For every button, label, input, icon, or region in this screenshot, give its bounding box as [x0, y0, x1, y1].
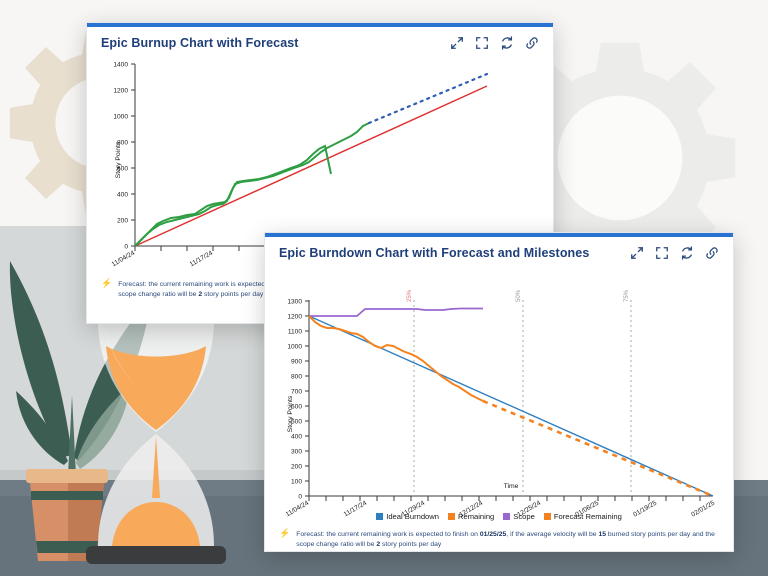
svg-text:25%: 25% — [407, 289, 413, 302]
svg-text:1100: 1100 — [288, 328, 303, 335]
svg-text:1400: 1400 — [113, 61, 128, 68]
collapse-icon[interactable] — [630, 246, 644, 260]
svg-text:0: 0 — [298, 493, 302, 500]
burndown-card-header: Epic Burndown Chart with Forecast and Mi… — [265, 237, 733, 264]
fullscreen-icon[interactable] — [475, 36, 489, 50]
link-icon[interactable] — [705, 246, 719, 260]
fullscreen-icon[interactable] — [655, 246, 669, 260]
bolt-icon: ⚡ — [279, 529, 290, 538]
svg-text:400: 400 — [291, 433, 302, 440]
svg-text:75%: 75% — [624, 289, 630, 302]
svg-text:0: 0 — [124, 243, 128, 250]
burnup-chart-title: Epic Burnup Chart with Forecast — [101, 36, 299, 50]
legend-item-scope[interactable]: Scope — [503, 512, 535, 521]
svg-text:100: 100 — [291, 478, 302, 485]
legend-item-remaining[interactable]: Remaining — [448, 512, 494, 521]
svg-text:1200: 1200 — [287, 313, 302, 320]
burndown-chart-body: 0 100 200 300 400 500 600 700 800 900 10… — [265, 264, 733, 540]
svg-text:800: 800 — [291, 373, 302, 380]
legend-swatch-forecast-remaining — [544, 513, 551, 520]
svg-text:Time: Time — [504, 483, 519, 490]
svg-text:1300: 1300 — [287, 298, 302, 305]
svg-text:1000: 1000 — [113, 113, 128, 120]
burndown-forecast-text: Forecast: the current remaining work is … — [296, 530, 719, 550]
legend-item-ideal-burndown[interactable]: Ideal Burndown — [376, 512, 439, 521]
burndown-chart-card: Epic Burndown Chart with Forecast and Mi… — [264, 232, 734, 552]
legend-label-forecast-remaining: Forecast Remaining — [554, 512, 622, 521]
burndown-forecast-note: ⚡ Forecast: the current remaining work i… — [279, 530, 719, 550]
svg-text:Story Points: Story Points — [287, 395, 294, 432]
link-icon[interactable] — [525, 36, 539, 50]
hourglass-illustration — [82, 302, 230, 566]
screenshot-root: Epic Burnup Chart with Forecast — [0, 0, 768, 576]
burndown-plot: 0 100 200 300 400 500 600 700 800 900 10… — [265, 264, 733, 514]
svg-text:700: 700 — [291, 388, 302, 395]
burndown-chart-title: Epic Burndown Chart with Forecast and Mi… — [279, 246, 589, 260]
svg-text:50%: 50% — [516, 289, 522, 302]
legend-swatch-remaining — [448, 513, 455, 520]
legend-item-forecast-remaining[interactable]: Forecast Remaining — [544, 512, 622, 521]
refresh-icon[interactable] — [500, 36, 514, 50]
svg-text:300: 300 — [291, 448, 302, 455]
svg-text:1000: 1000 — [287, 343, 302, 350]
legend-label-scope: Scope — [513, 512, 535, 521]
legend-label-remaining: Remaining — [458, 512, 494, 521]
bolt-icon: ⚡ — [101, 279, 112, 288]
burnup-card-header: Epic Burnup Chart with Forecast — [87, 27, 553, 54]
refresh-icon[interactable] — [680, 246, 694, 260]
svg-text:900: 900 — [291, 358, 302, 365]
legend-swatch-ideal-burndown — [376, 513, 383, 520]
svg-text:Story Points: Story Points — [115, 141, 122, 178]
svg-text:200: 200 — [291, 463, 302, 470]
burnup-toolbar — [450, 36, 539, 50]
svg-text:1200: 1200 — [113, 87, 128, 94]
legend-label-ideal-burndown: Ideal Burndown — [386, 512, 439, 521]
svg-text:200: 200 — [117, 217, 128, 224]
svg-text:400: 400 — [117, 191, 128, 198]
legend-swatch-scope — [503, 513, 510, 520]
collapse-icon[interactable] — [450, 36, 464, 50]
burndown-toolbar — [630, 246, 719, 260]
burndown-legend: Ideal Burndown Remaining Scope Forecast … — [265, 512, 733, 521]
